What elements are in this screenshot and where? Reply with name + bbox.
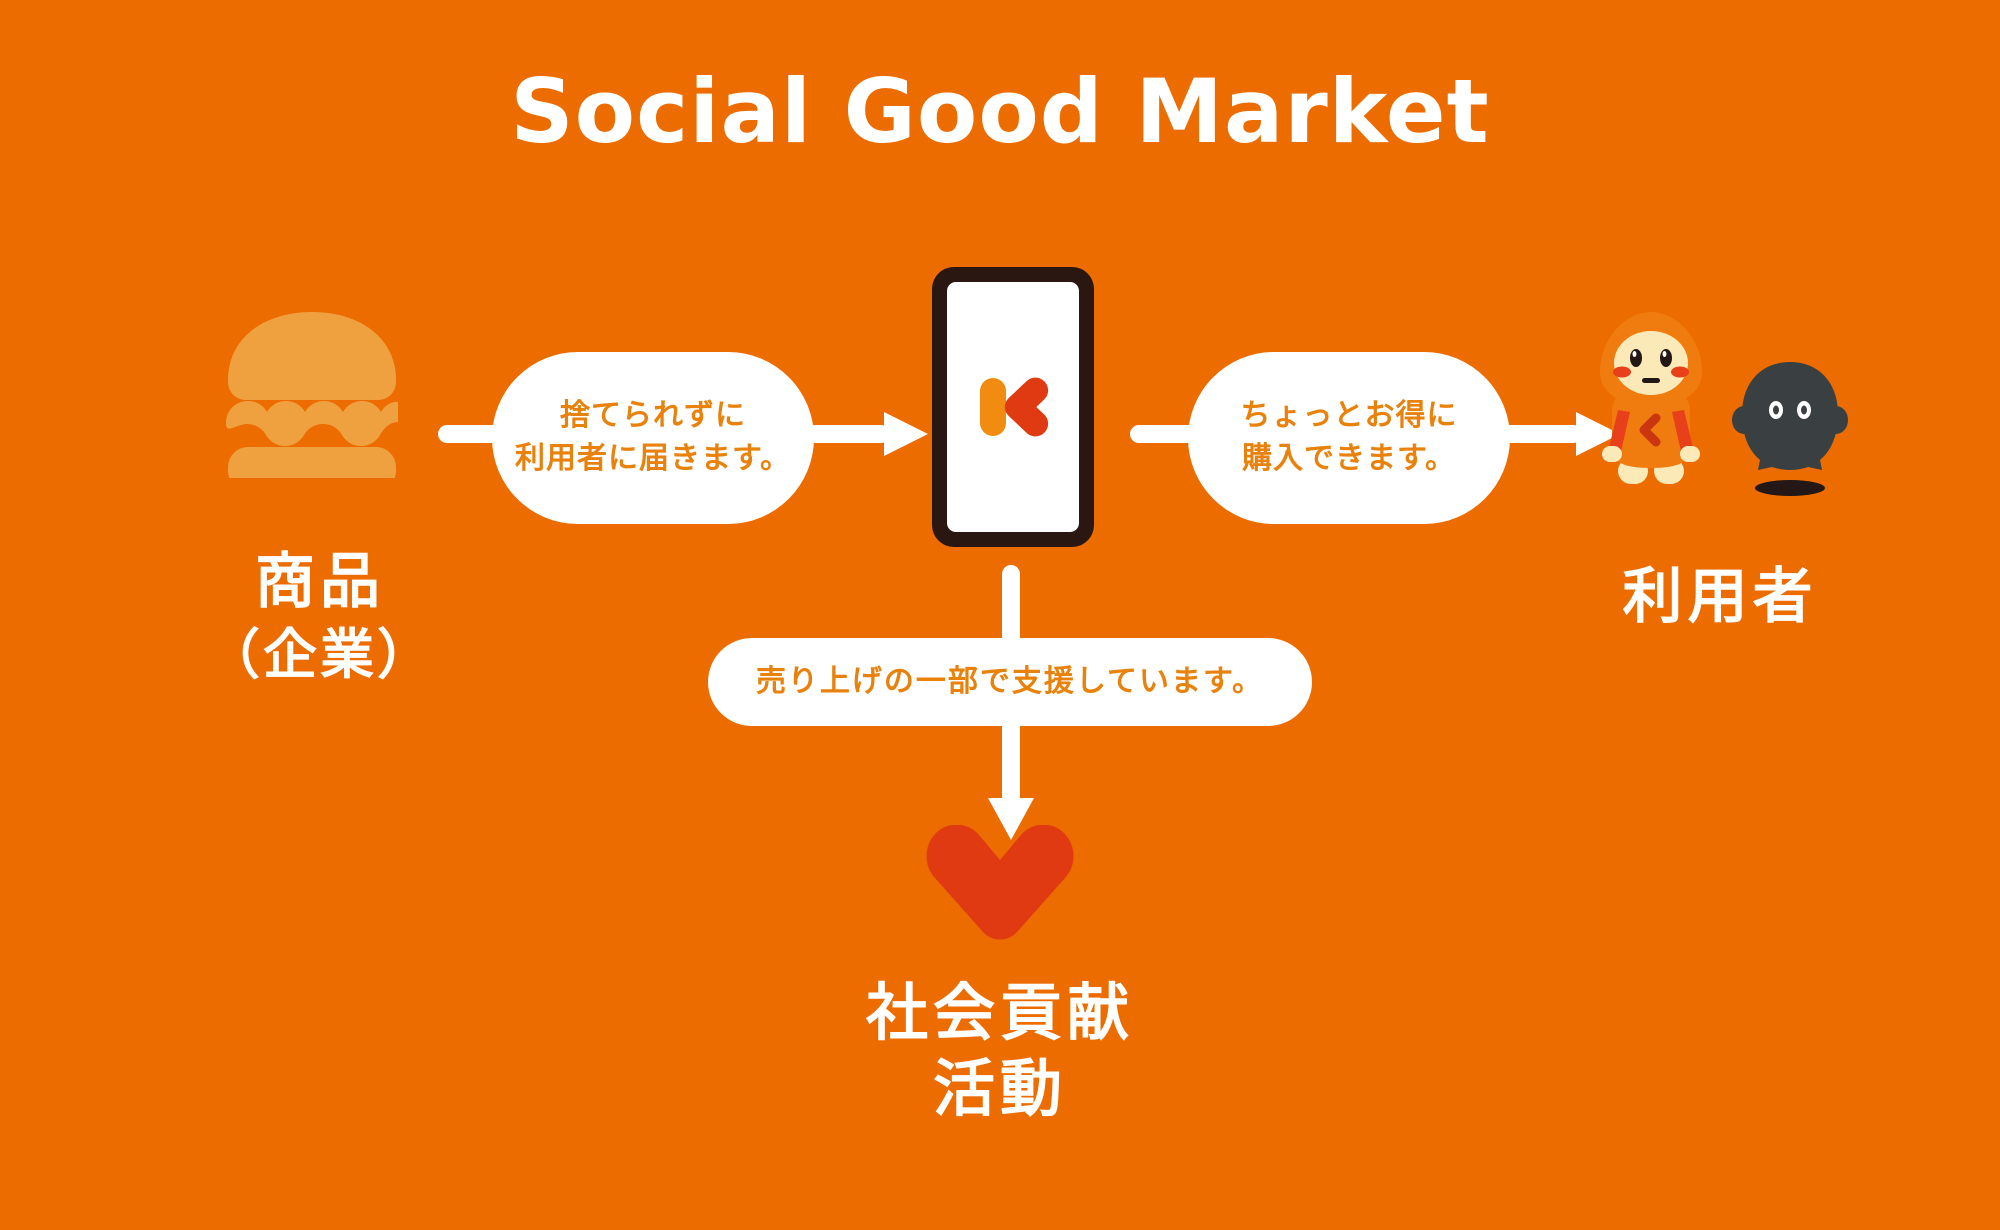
smartphone-icon	[932, 267, 1094, 547]
user-mascots-icon	[1592, 310, 1862, 505]
mascot-hooded-character	[1600, 312, 1702, 484]
caption-social-contribution: 社会貢献 活動	[800, 975, 1200, 1126]
caption-social-line1: 社会貢献	[800, 975, 1200, 1051]
caption-user: 利用者	[1520, 560, 1920, 636]
bubble-left-line2: 利用者に届きます。	[515, 438, 791, 481]
heart-chevron-icon	[910, 825, 1090, 945]
caption-product-sub: （企業）	[120, 621, 520, 689]
infographic-canvas: Social Good Market	[0, 0, 2000, 1230]
caption-product: 商品 （企業）	[120, 545, 520, 689]
phone-screen	[947, 282, 1079, 532]
k-logo-icon	[970, 364, 1056, 450]
bubble-platform-to-social: 売り上げの一部で支援しています。	[708, 638, 1312, 726]
bubble-bottom-line1: 売り上げの一部で支援しています。	[756, 661, 1264, 704]
hamburger-icon	[222, 308, 402, 478]
bubble-left-line1: 捨てられずに	[560, 395, 746, 438]
caption-product-main: 商品	[120, 545, 520, 621]
bubble-right-line2: 購入できます。	[1242, 438, 1456, 481]
bubble-right-line1: ちょっとお得に	[1241, 395, 1458, 438]
caption-social-line2: 活動	[800, 1051, 1200, 1127]
bubble-platform-to-user: ちょっとお得に 購入できます。	[1188, 352, 1510, 524]
bubble-product-to-platform: 捨てられずに 利用者に届きます。	[492, 352, 814, 524]
page-title: Social Good Market	[0, 64, 2000, 161]
mascot-blob-character	[1732, 362, 1848, 496]
caption-user-main: 利用者	[1520, 560, 1920, 636]
